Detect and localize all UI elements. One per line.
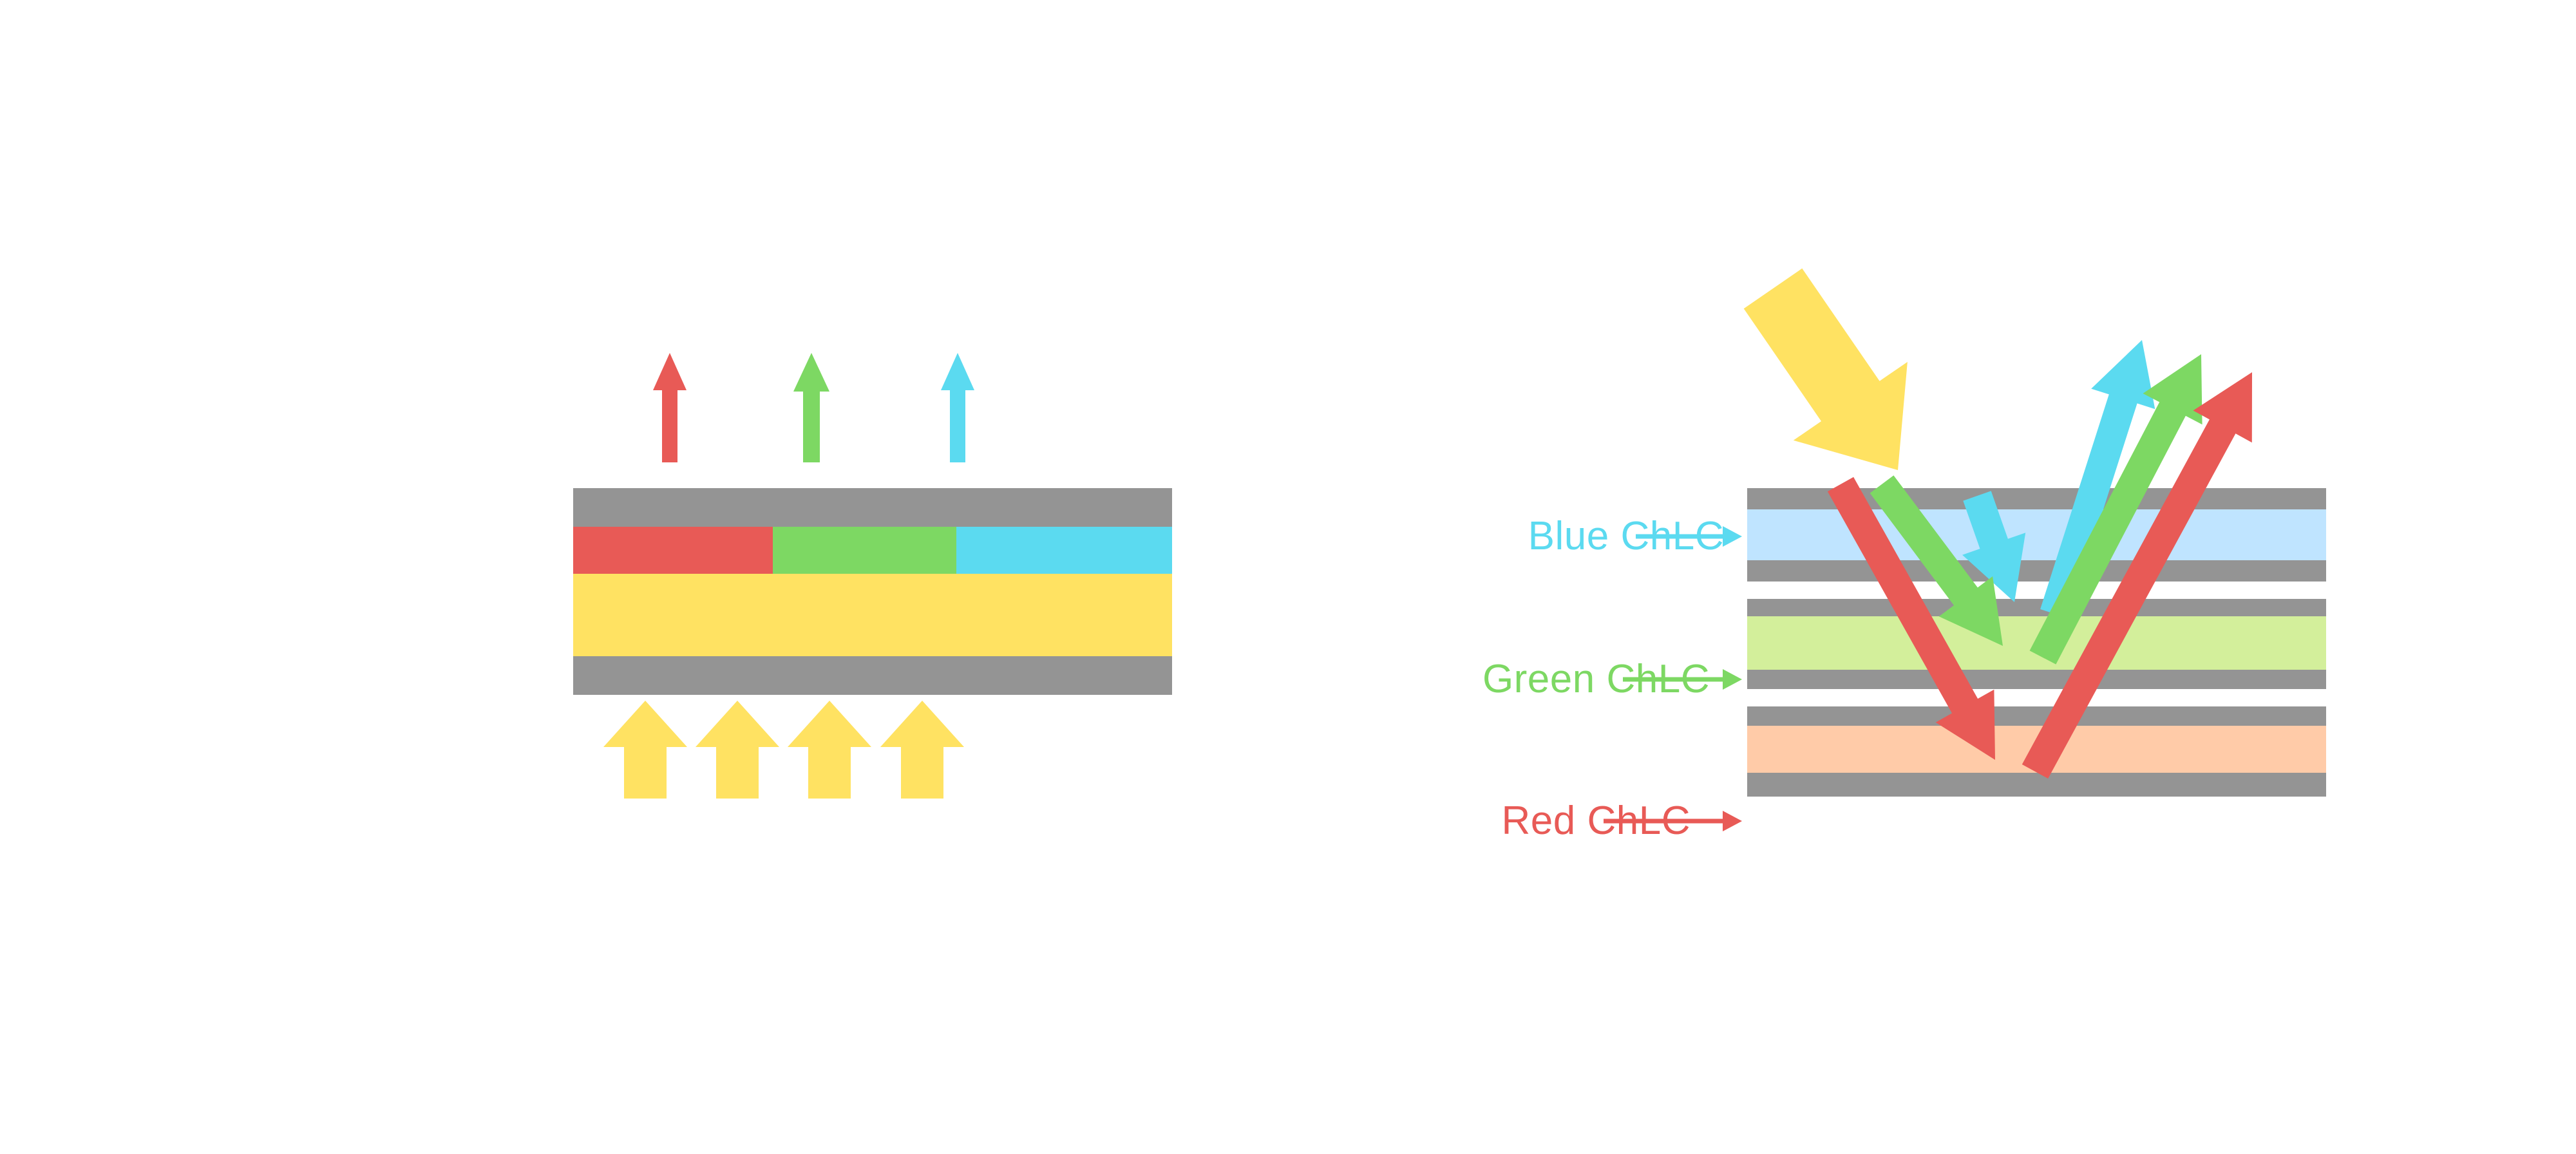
- red-cell-top-electrode: [1747, 706, 2326, 726]
- color-filter-red: [573, 527, 773, 574]
- diagram-canvas: Blue ChLCGreen ChLCRed ChLC: [0, 0, 2576, 1154]
- green-cell-bottom-electrode: [1747, 670, 2326, 689]
- top-electrode: [573, 488, 1172, 527]
- emissive-layer-stack: [573, 488, 1172, 695]
- color-filter-blue: [956, 527, 1172, 574]
- green-cell-top-electrode: [1747, 599, 2326, 616]
- red-cell-bottom-electrode: [1747, 773, 2326, 797]
- blue-chlc-layer: [1747, 509, 2326, 560]
- bottom-electrode: [573, 656, 1172, 695]
- backlight-layer: [573, 574, 1172, 656]
- blue-cell-bottom-electrode: [1747, 560, 2326, 582]
- color-filter-green: [773, 527, 956, 574]
